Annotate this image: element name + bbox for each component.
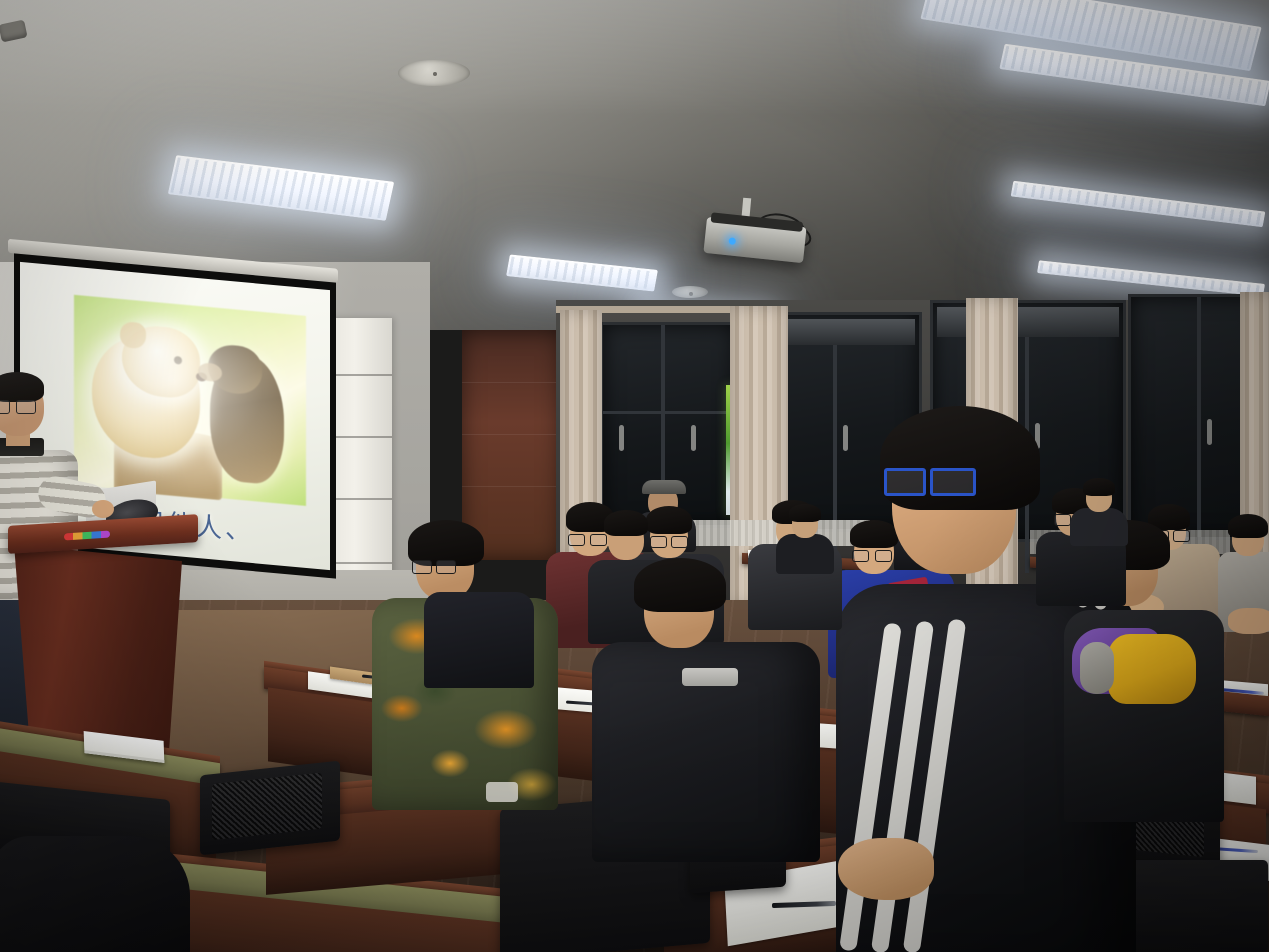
blue-glasses-icon: [884, 468, 976, 490]
lecturer-glasses-icon: [0, 400, 36, 412]
student-hand: [838, 838, 934, 900]
ceiling-vent-icon: [672, 286, 708, 298]
student-distant: [782, 504, 828, 562]
gray-strap: [1080, 642, 1114, 694]
lecturer-hair: [0, 372, 44, 402]
student-left-near-camo: [430, 532, 526, 682]
classroom-photo: 恕他人、: [0, 0, 1269, 952]
student-chair: [1118, 860, 1268, 952]
jacket-patch: [486, 782, 518, 802]
baseball-cap-icon: [642, 480, 686, 494]
podium-body: [14, 544, 182, 758]
lecturer-hand: [92, 500, 114, 518]
yellow-hoodie: [1108, 634, 1196, 704]
student-foreground-shoulder: [0, 836, 190, 952]
student-chair: [200, 761, 340, 856]
student-hands-clasped: [1228, 608, 1269, 634]
student-distant: [1076, 478, 1122, 532]
hoodie-logo: [682, 668, 738, 686]
lectern-podium[interactable]: [8, 520, 198, 762]
smoke-detector-icon: [398, 60, 470, 86]
projector-power-led-icon: [728, 237, 736, 245]
